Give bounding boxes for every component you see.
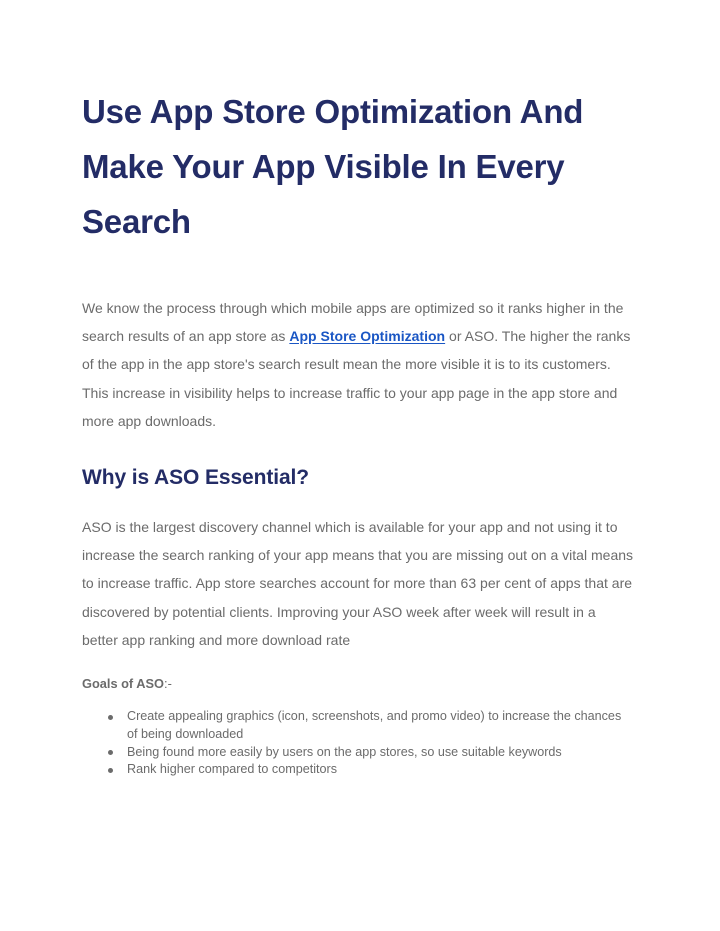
document-page: Use App Store Optimization And Make Your…	[0, 0, 720, 931]
bullet-dot-icon	[108, 768, 113, 773]
page-title: Use App Store Optimization And Make Your…	[82, 0, 612, 249]
goals-list: Create appealing graphics (icon, screens…	[82, 693, 635, 779]
goals-of-aso-label-suffix: :-	[164, 676, 172, 691]
bullet-dot-icon	[108, 750, 113, 755]
goals-of-aso-label-strong: Goals of ASO	[82, 676, 164, 691]
section-heading-why-is-aso-essential: Why is ASO Essential?	[82, 435, 635, 491]
list-item-label: Create appealing graphics (icon, screens…	[127, 709, 621, 741]
list-item: Rank higher compared to competitors	[82, 761, 635, 779]
list-item-label: Being found more easily by users on the …	[127, 745, 562, 759]
goals-of-aso-label: Goals of ASO:-	[82, 654, 635, 693]
app-store-optimization-link[interactable]: App Store Optimization	[289, 328, 445, 344]
list-item: Create appealing graphics (icon, screens…	[82, 708, 635, 744]
intro-paragraph: We know the process through which mobile…	[82, 249, 635, 435]
list-item-label: Rank higher compared to competitors	[127, 762, 337, 776]
bullet-dot-icon	[108, 715, 113, 720]
list-item: Being found more easily by users on the …	[82, 744, 635, 762]
aso-paragraph: ASO is the largest discovery channel whi…	[82, 491, 635, 654]
